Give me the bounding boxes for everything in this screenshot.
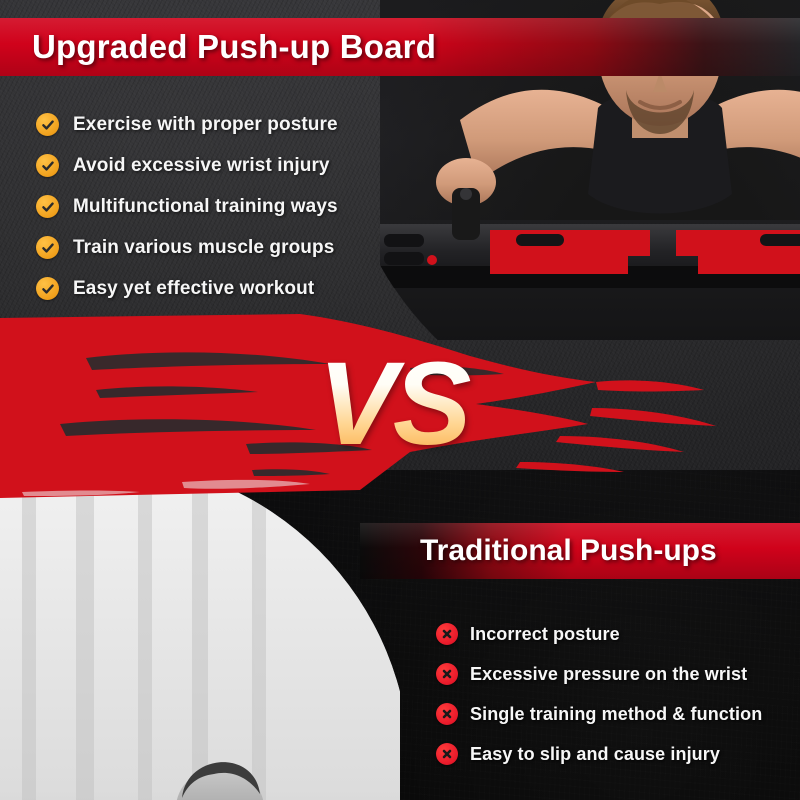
list-item-label: Exercise with proper posture [73,114,338,136]
check-circle-icon [36,277,59,300]
check-circle-icon [36,113,59,136]
traditional-drawbacks-list: Incorrect posture Excessive pressure on … [436,614,796,774]
vs-label: VS [318,342,538,467]
x-circle-icon [436,623,458,645]
upgraded-benefits-list: Exercise with proper posture Avoid exces… [36,104,416,309]
vs-divider-band: VS [0,312,800,502]
check-circle-icon [36,195,59,218]
list-item: Exercise with proper posture [36,104,416,145]
list-item: Avoid excessive wrist injury [36,145,416,186]
list-item: Easy to slip and cause injury [436,734,796,774]
product-comparison-poster: Upgraded Push-up Board Exercise with pro… [0,0,800,800]
list-item: Excessive pressure on the wrist [436,654,796,694]
x-circle-icon [436,743,458,765]
list-item: Train various muscle groups [36,227,416,268]
list-item-label: Multifunctional training ways [73,196,338,218]
list-item-label: Incorrect posture [470,624,620,645]
list-item-label: Train various muscle groups [73,237,334,259]
list-item-label: Easy to slip and cause injury [470,744,720,765]
traditional-pushup-photo [0,488,400,800]
list-item: Easy yet effective workout [36,268,416,309]
x-circle-icon [436,703,458,725]
list-item: Multifunctional training ways [36,186,416,227]
list-item-label: Single training method & function [470,704,762,725]
x-circle-icon [436,663,458,685]
check-circle-icon [36,236,59,259]
upgraded-title: Upgraded Push-up Board [32,20,436,74]
list-item-label: Avoid excessive wrist injury [73,155,330,177]
list-item-label: Excessive pressure on the wrist [470,664,747,685]
traditional-title: Traditional Push-ups [420,525,717,577]
check-circle-icon [36,154,59,177]
list-item: Incorrect posture [436,614,796,654]
traditional-pushup-illustration [0,488,400,800]
list-item: Single training method & function [436,694,796,734]
photo-circle-mask [0,488,400,800]
list-item-label: Easy yet effective workout [73,278,314,300]
